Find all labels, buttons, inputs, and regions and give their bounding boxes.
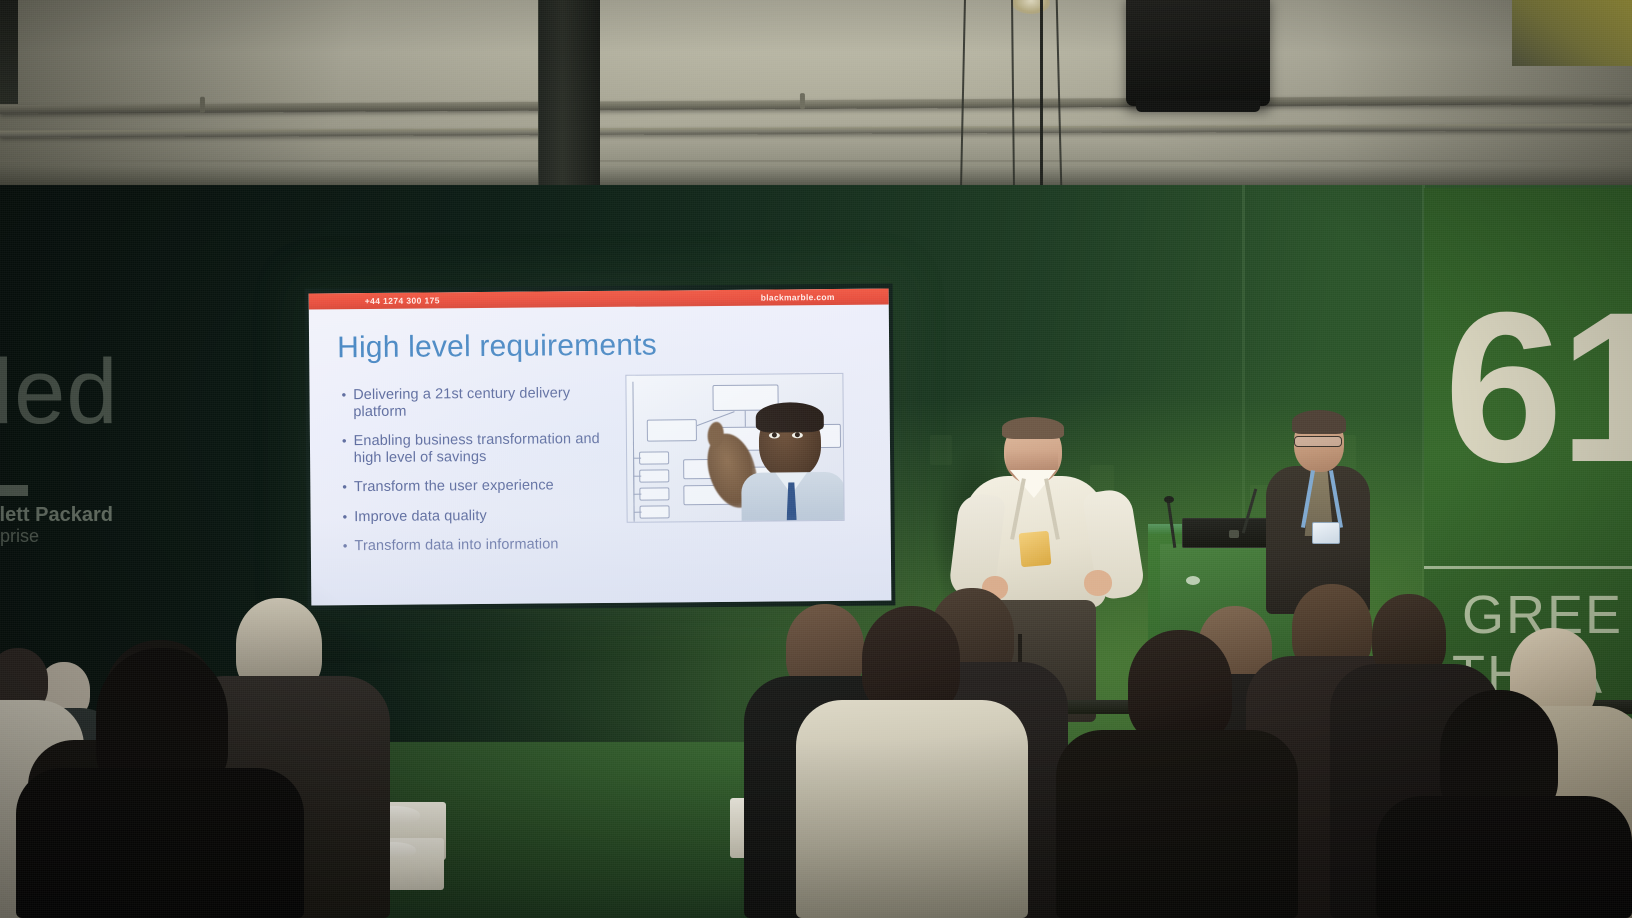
rigging-cable	[1040, 0, 1043, 188]
bullet-dot-icon: •	[342, 433, 347, 467]
presenter-badge	[1312, 522, 1340, 544]
microphone-head-icon	[1164, 496, 1174, 503]
wall-brand-word: ded	[0, 340, 119, 445]
glasses-icon	[1294, 436, 1342, 447]
slide-phone-number: +44 1274 300 175	[365, 295, 440, 306]
bullet-dot-icon: •	[341, 387, 346, 421]
pa-speaker-box	[1126, 0, 1270, 106]
slide-header-bar: +44 1274 300 175 blackmarble.com	[309, 288, 889, 309]
lectern-presenter	[1264, 414, 1374, 614]
diagram-person	[739, 402, 845, 521]
conference-photo: ded wlett Packard erprise coded 61 GREE …	[0, 0, 1632, 918]
hpe-logo-name: wlett Packard	[0, 505, 113, 526]
ceiling-seam	[0, 160, 1632, 162]
bullet-dot-icon: •	[342, 480, 347, 497]
venue-sign-divider	[1424, 566, 1632, 569]
presenter-badge	[1019, 531, 1052, 567]
slide-website-url: blackmarble.com	[761, 292, 835, 303]
hpe-dash-icon	[0, 485, 28, 496]
wall-vent	[0, 0, 18, 104]
slide-bullet-item: • Delivering a 21st century delivery pla…	[341, 385, 616, 422]
lectern-indicator-light	[1186, 576, 1200, 585]
bullet-text: Transform the user experience	[354, 478, 554, 497]
hpe-logo: wlett Packard erprise	[0, 485, 113, 547]
hpe-logo-sub: erprise	[0, 526, 113, 547]
slide-bullet-item: • Transform the user experience	[342, 477, 617, 497]
slide-title: High level requirements	[337, 329, 657, 366]
projection-screen: +44 1274 300 175 blackmarble.com High le…	[305, 283, 896, 610]
slide-sheen	[311, 512, 892, 605]
structural-pillar	[538, 0, 600, 192]
presentation-slide: +44 1274 300 175 blackmarble.com High le…	[309, 288, 892, 605]
ceiling-yellow-corner	[1512, 0, 1632, 66]
slide-illustration	[625, 373, 844, 523]
venue-sign-number: 61	[1444, 296, 1632, 480]
slide-bullet-item: • Enabling business transformation and h…	[342, 431, 617, 468]
bullet-text: Enabling business transformation and hig…	[354, 431, 618, 468]
bullet-text: Delivering a 21st century delivery platf…	[353, 385, 617, 422]
